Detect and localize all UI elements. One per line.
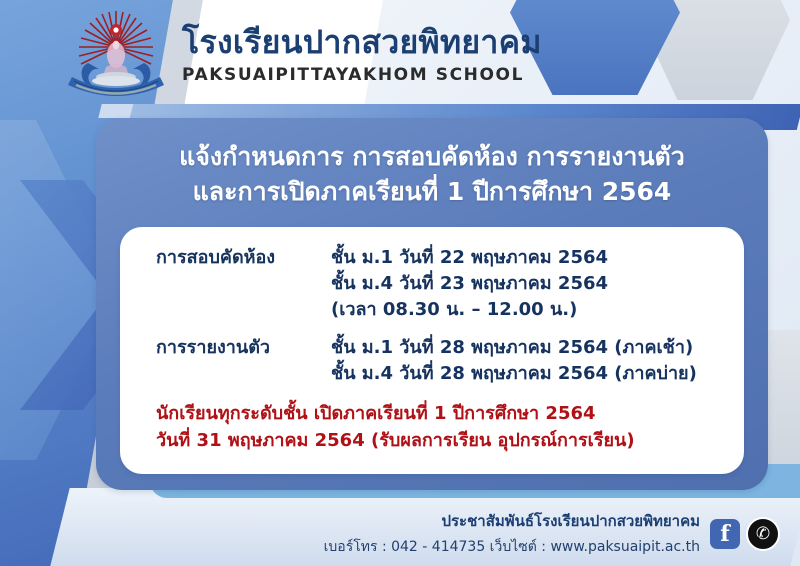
- schedule-value-line: ชั้น ม.4 วันที่ 23 พฤษภาคม 2564: [331, 271, 608, 297]
- school-name-en: PAKSUAIPITTAYAKHOM SCHOOL: [182, 65, 542, 85]
- announcement-title-line-1: แจ้งกำหนดการ การสอบคัดห้อง การรายงานตัว: [112, 140, 752, 175]
- footer-contact-line: เบอร์โทร : 042 - 414735 เว็บไซต์ : www.p…: [324, 536, 700, 558]
- schedule-card: การสอบคัดห้อง ชั้น ม.1 วันที่ 22 พฤษภาคม…: [120, 227, 744, 474]
- schedule-value-line: ชั้น ม.4 วันที่ 28 พฤษภาคม 2564 (ภาคบ่าย…: [331, 361, 697, 387]
- schedule-value-line: ชั้น ม.1 วันที่ 28 พฤษภาคม 2564 (ภาคเช้า…: [331, 335, 697, 361]
- schedule-row-report: การรายงานตัว ชั้น ม.1 วันที่ 28 พฤษภาคม …: [130, 335, 734, 387]
- social-links: f ✆: [710, 517, 780, 551]
- schedule-value-line: (เวลา 08.30 น. – 12.00 น.): [331, 297, 608, 323]
- schedule-label-exam: การสอบคัดห้อง: [156, 245, 331, 271]
- poster-footer: ประชาสัมพันธ์โรงเรียนปากสวยพิทยาคม เบอร์…: [324, 509, 780, 558]
- schedule-value-line: ชั้น ม.1 วันที่ 22 พฤษภาคม 2564: [331, 245, 608, 271]
- announcement-poster: โรงเรียนปากสวยพิทยาคม PAKSUAIPITTAYAKHOM…: [0, 0, 800, 566]
- schedule-values-exam: ชั้น ม.1 วันที่ 22 พฤษภาคม 2564 ชั้น ม.4…: [331, 245, 608, 323]
- highlight-note-line-1: นักเรียนทุกระดับชั้น เปิดภาคเรียนที่ 1 ป…: [156, 401, 734, 427]
- schedule-row-exam: การสอบคัดห้อง ชั้น ม.1 วันที่ 22 พฤษภาคม…: [130, 245, 734, 323]
- highlight-note: นักเรียนทุกระดับชั้น เปิดภาคเรียนที่ 1 ป…: [130, 401, 734, 453]
- facebook-icon[interactable]: f: [710, 519, 740, 549]
- school-crest-logo: [62, 5, 170, 105]
- announcement-card: แจ้งกำหนดการ การสอบคัดห้อง การรายงานตัว …: [96, 118, 768, 490]
- header-text-block: โรงเรียนปากสวยพิทยาคม PAKSUAIPITTAYAKHOM…: [182, 25, 542, 84]
- phone-icon[interactable]: ✆: [746, 517, 780, 551]
- footer-contact-text: ประชาสัมพันธ์โรงเรียนปากสวยพิทยาคม เบอร์…: [324, 509, 700, 558]
- school-name-th: โรงเรียนปากสวยพิทยาคม: [182, 25, 542, 60]
- footer-org-line: ประชาสัมพันธ์โรงเรียนปากสวยพิทยาคม: [324, 509, 700, 533]
- announcement-title-line-2: และการเปิดภาคเรียนที่ 1 ปีการศึกษา 2564: [112, 175, 752, 210]
- poster-header: โรงเรียนปากสวยพิทยาคม PAKSUAIPITTAYAKHOM…: [0, 0, 800, 110]
- highlight-note-line-2: วันที่ 31 พฤษภาคม 2564 (รับผลการเรียน อุ…: [156, 428, 734, 454]
- schedule-values-report: ชั้น ม.1 วันที่ 28 พฤษภาคม 2564 (ภาคเช้า…: [331, 335, 697, 387]
- announcement-title: แจ้งกำหนดการ การสอบคัดห้อง การรายงานตัว …: [96, 140, 768, 209]
- schedule-label-report: การรายงานตัว: [156, 335, 331, 361]
